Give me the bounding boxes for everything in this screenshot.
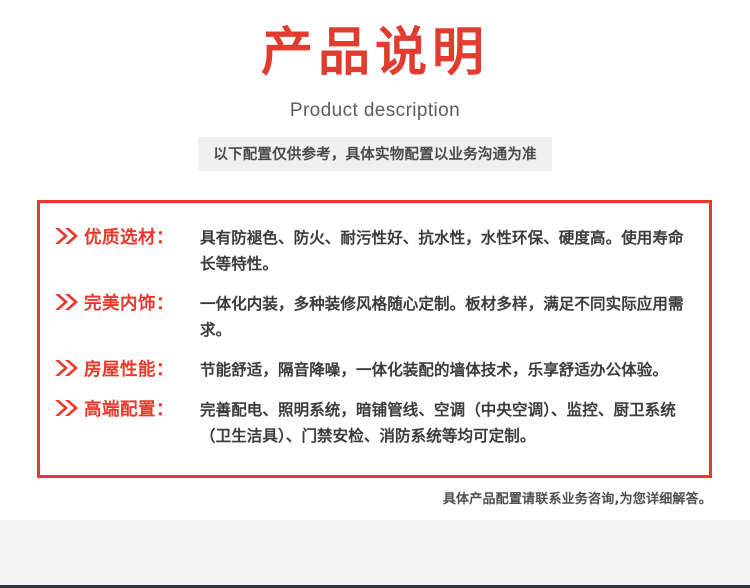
feature-label: 房屋性能： (84, 357, 200, 383)
feature-row: 完美内饰： 一体化内装，多种装修风格随心定制。板材多样，满足不同实际应用需求。 (54, 291, 695, 343)
notice-bar: 以下配置仅供参考，具体实物配置以业务沟通为准 (198, 137, 552, 171)
double-chevron-right-icon (54, 357, 84, 377)
feature-text: 节能舒适，隔音降噪，一体化装配的墙体技术，乐享舒适办公体验。 (200, 357, 695, 383)
feature-text: 具有防褪色、防火、耐污性好、抗水性，水性环保、硬度高。使用寿命长等特性。 (200, 225, 695, 277)
feature-label: 高端配置： (84, 397, 200, 423)
feature-text: 一体化内装，多种装修风格随心定制。板材多样，满足不同实际应用需求。 (200, 291, 695, 343)
page-header: 产品说明 Product description 以下配置仅供参考，具体实物配置… (0, 0, 750, 171)
feature-row: 优质选材： 具有防褪色、防火、耐污性好、抗水性，水性环保、硬度高。使用寿命长等特… (54, 225, 695, 277)
product-description-page: 产品说明 Product description 以下配置仅供参考，具体实物配置… (0, 0, 750, 588)
page-subtitle-english: Product description (0, 100, 750, 122)
bottom-grey-band (0, 520, 750, 585)
page-title: 产品说明 (0, 24, 750, 82)
feature-text: 完善配电、照明系统，暗铺管线、空调（中央空调）、监控、厨卫系统（卫生洁具）、门禁… (200, 397, 695, 449)
double-chevron-right-icon (54, 397, 84, 417)
feature-list-box: 优质选材： 具有防褪色、防火、耐污性好、抗水性，水性环保、硬度高。使用寿命长等特… (37, 200, 712, 478)
notice-bar-wrapper: 以下配置仅供参考，具体实物配置以业务沟通为准 (0, 137, 750, 171)
footer-note: 具体产品配置请联系业务咨询,为您详细解答。 (443, 488, 712, 507)
feature-row: 房屋性能： 节能舒适，隔音降噪，一体化装配的墙体技术，乐享舒适办公体验。 (54, 357, 695, 383)
feature-label: 完美内饰： (84, 291, 200, 317)
feature-row: 高端配置： 完善配电、照明系统，暗铺管线、空调（中央空调）、监控、厨卫系统（卫生… (54, 397, 695, 449)
double-chevron-right-icon (54, 225, 84, 245)
feature-label: 优质选材： (84, 225, 200, 251)
double-chevron-right-icon (54, 291, 84, 311)
